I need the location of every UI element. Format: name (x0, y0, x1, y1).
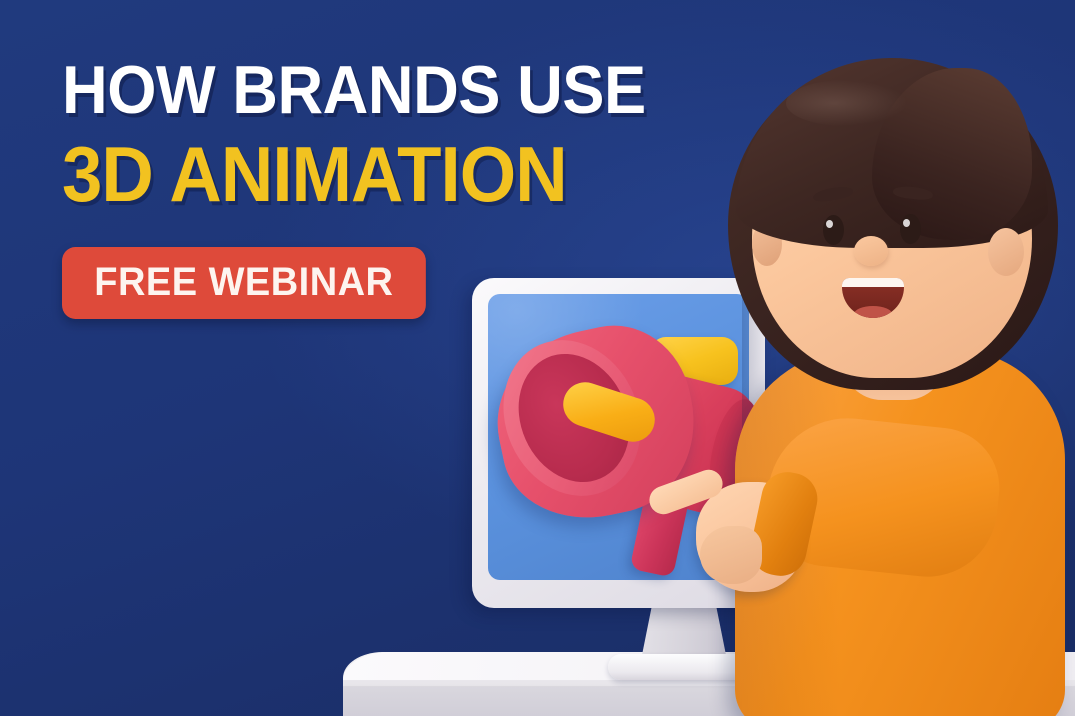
promo-copy-block: HOW BRANDS USE 3D ANIMATION FREE WEBINAR (62, 58, 682, 319)
character-nose (854, 236, 888, 266)
character-tongue (854, 306, 892, 318)
headline-line-1: HOW BRANDS USE (62, 58, 639, 123)
presenter-character (690, 40, 1075, 716)
character-hair-highlight (786, 80, 906, 126)
character-eye-right (900, 214, 921, 244)
headline-line-2: 3D ANIMATION (62, 135, 639, 213)
character-eye-left (823, 215, 844, 245)
free-webinar-badge[interactable]: FREE WEBINAR (62, 247, 426, 319)
webinar-promo-banner: HOW BRANDS USE 3D ANIMATION FREE WEBINAR (0, 0, 1075, 716)
character-eye-highlight-right (903, 219, 910, 227)
character-eye-highlight-left (826, 220, 833, 228)
character-knuckles (700, 526, 762, 584)
character-teeth (842, 278, 904, 287)
character-ear-right (988, 228, 1024, 276)
